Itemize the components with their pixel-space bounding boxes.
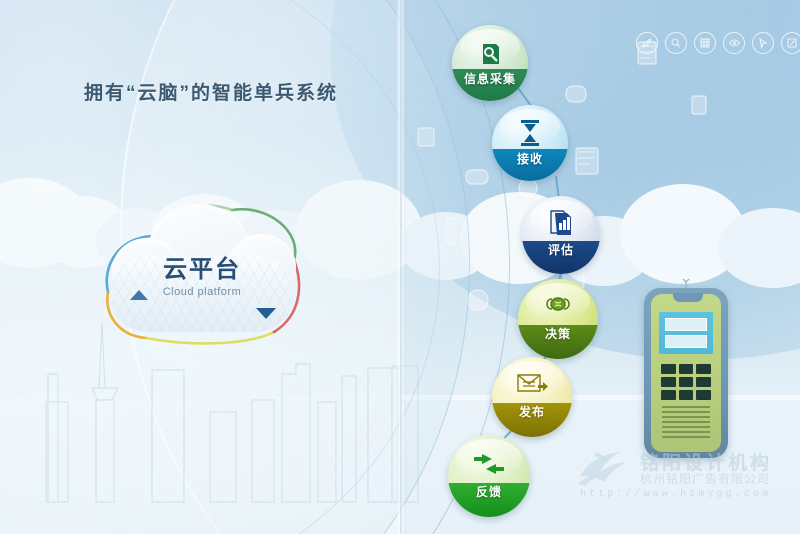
flow-node-evaluate[interactable]: 评估 bbox=[522, 196, 600, 274]
rugged-handheld-terminal[interactable] bbox=[644, 288, 728, 458]
device-screen bbox=[659, 312, 713, 354]
cloud-platform-graphic: 云平台 Cloud platform bbox=[96, 196, 308, 346]
device-notch bbox=[673, 293, 703, 302]
flow-node-label: 发布 bbox=[492, 403, 572, 420]
envelope-send-icon bbox=[492, 371, 572, 400]
cloud-platform-title: 云平台 bbox=[106, 258, 298, 282]
watermark-company-sub: 杭州铭阳广告有限公司 bbox=[640, 470, 770, 487]
flow-node-info-collection[interactable]: 信息采集 bbox=[452, 25, 528, 101]
flow-node-decision[interactable]: 决策 bbox=[518, 279, 598, 359]
watermark: 铭阳设计机构 杭州铭阳广告有限公司 http://www.hzmygg.com bbox=[576, 446, 796, 508]
cloud-platform-subtitle: Cloud platform bbox=[106, 286, 298, 298]
flow-node-label: 反馈 bbox=[448, 483, 530, 500]
flow-node-receive[interactable]: 接收 bbox=[492, 105, 568, 181]
cloud-shape: 云平台 Cloud platform bbox=[106, 204, 298, 336]
two-way-arrows-icon bbox=[448, 453, 530, 480]
device-speaker-grille bbox=[662, 406, 710, 441]
magnifier-document-icon bbox=[452, 41, 528, 72]
device-keypad[interactable] bbox=[661, 364, 711, 400]
city-skyline bbox=[0, 314, 420, 534]
flow-node-publish[interactable]: 发布 bbox=[492, 357, 572, 437]
watermark-url: http://www.hzmygg.com bbox=[580, 489, 771, 500]
device-face bbox=[651, 294, 721, 452]
hourglass-icon bbox=[492, 119, 568, 152]
download-triangle-icon bbox=[256, 308, 276, 319]
page-title: 拥有“云脑”的智能单兵系统 bbox=[84, 78, 338, 105]
bar-chart-document-icon bbox=[522, 209, 600, 242]
flow-node-label: 决策 bbox=[518, 325, 598, 342]
phoenix-wing-logo bbox=[576, 446, 634, 490]
flow-node-label: 接收 bbox=[492, 150, 568, 167]
poster-stage: 拥有“云脑”的智能单兵系统 bbox=[0, 0, 800, 534]
flow-node-feedback[interactable]: 反馈 bbox=[448, 435, 530, 517]
brain-icon bbox=[518, 293, 598, 322]
flow-node-label: 评估 bbox=[522, 241, 600, 258]
flow-node-label: 信息采集 bbox=[452, 70, 528, 87]
